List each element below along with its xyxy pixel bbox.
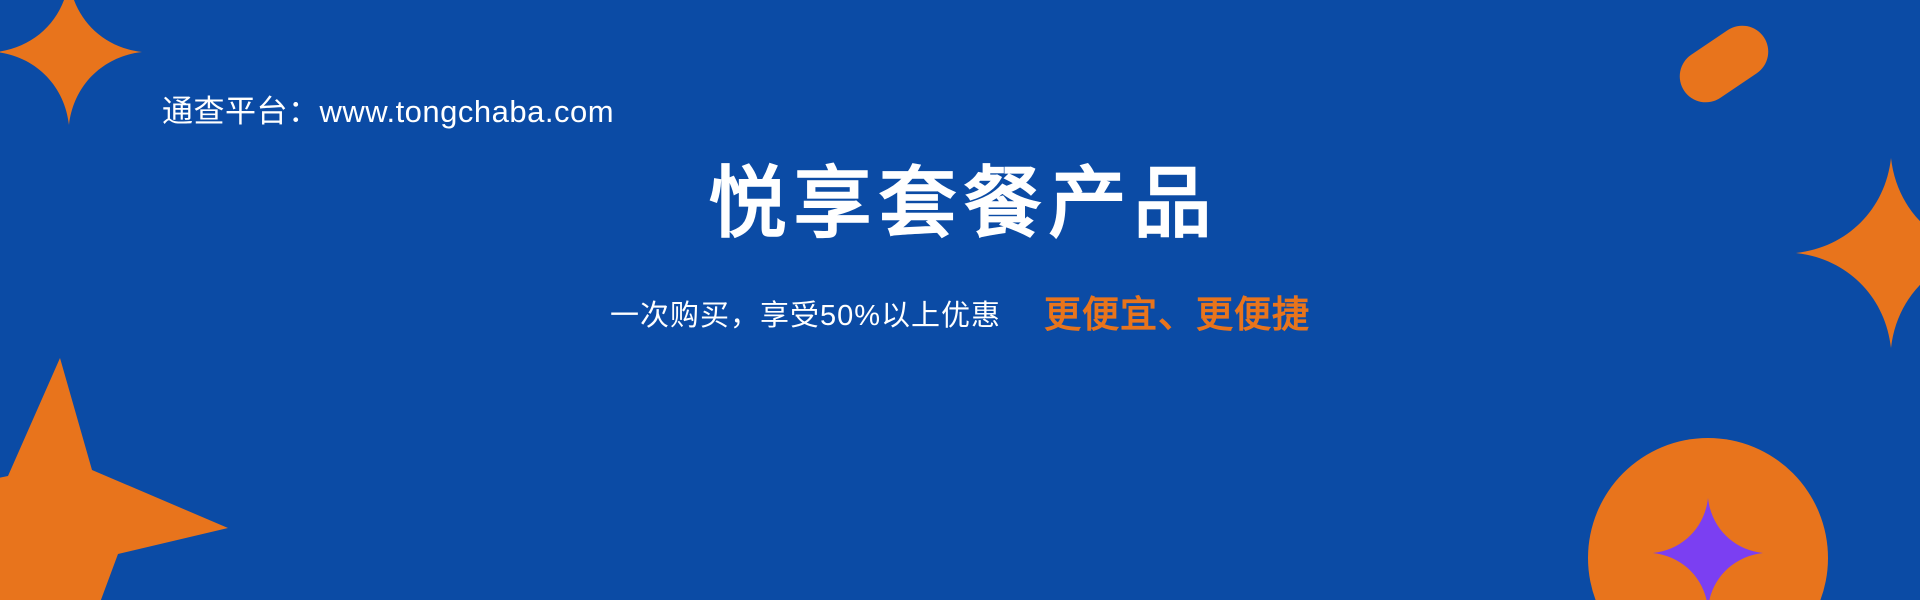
- banner-headline: 悦享套餐产品: [0, 160, 1920, 247]
- platform-url-line: 通查平台：www.tongchaba.com: [162, 86, 614, 131]
- promo-banner: 通查平台：www.tongchaba.com 悦享套餐产品 一次购买，享受50%…: [0, 0, 1920, 600]
- banner-subline-plain: 一次购买，享受50%以上优惠: [610, 300, 1001, 332]
- capsule-shape-top-right: [1670, 16, 1779, 113]
- banner-subline: 一次购买，享受50%以上优惠 更便宜、更便捷: [0, 292, 1920, 338]
- sparkle-star-icon-top-left: [0, 0, 142, 130]
- burst-star-shape-bottom-left: [0, 358, 228, 600]
- circle-shape-bottom-right: [1588, 438, 1828, 600]
- sparkle-star-icon-bottom-right: [1653, 494, 1763, 600]
- banner-subline-highlight: 更便宜、更便捷: [1044, 294, 1310, 335]
